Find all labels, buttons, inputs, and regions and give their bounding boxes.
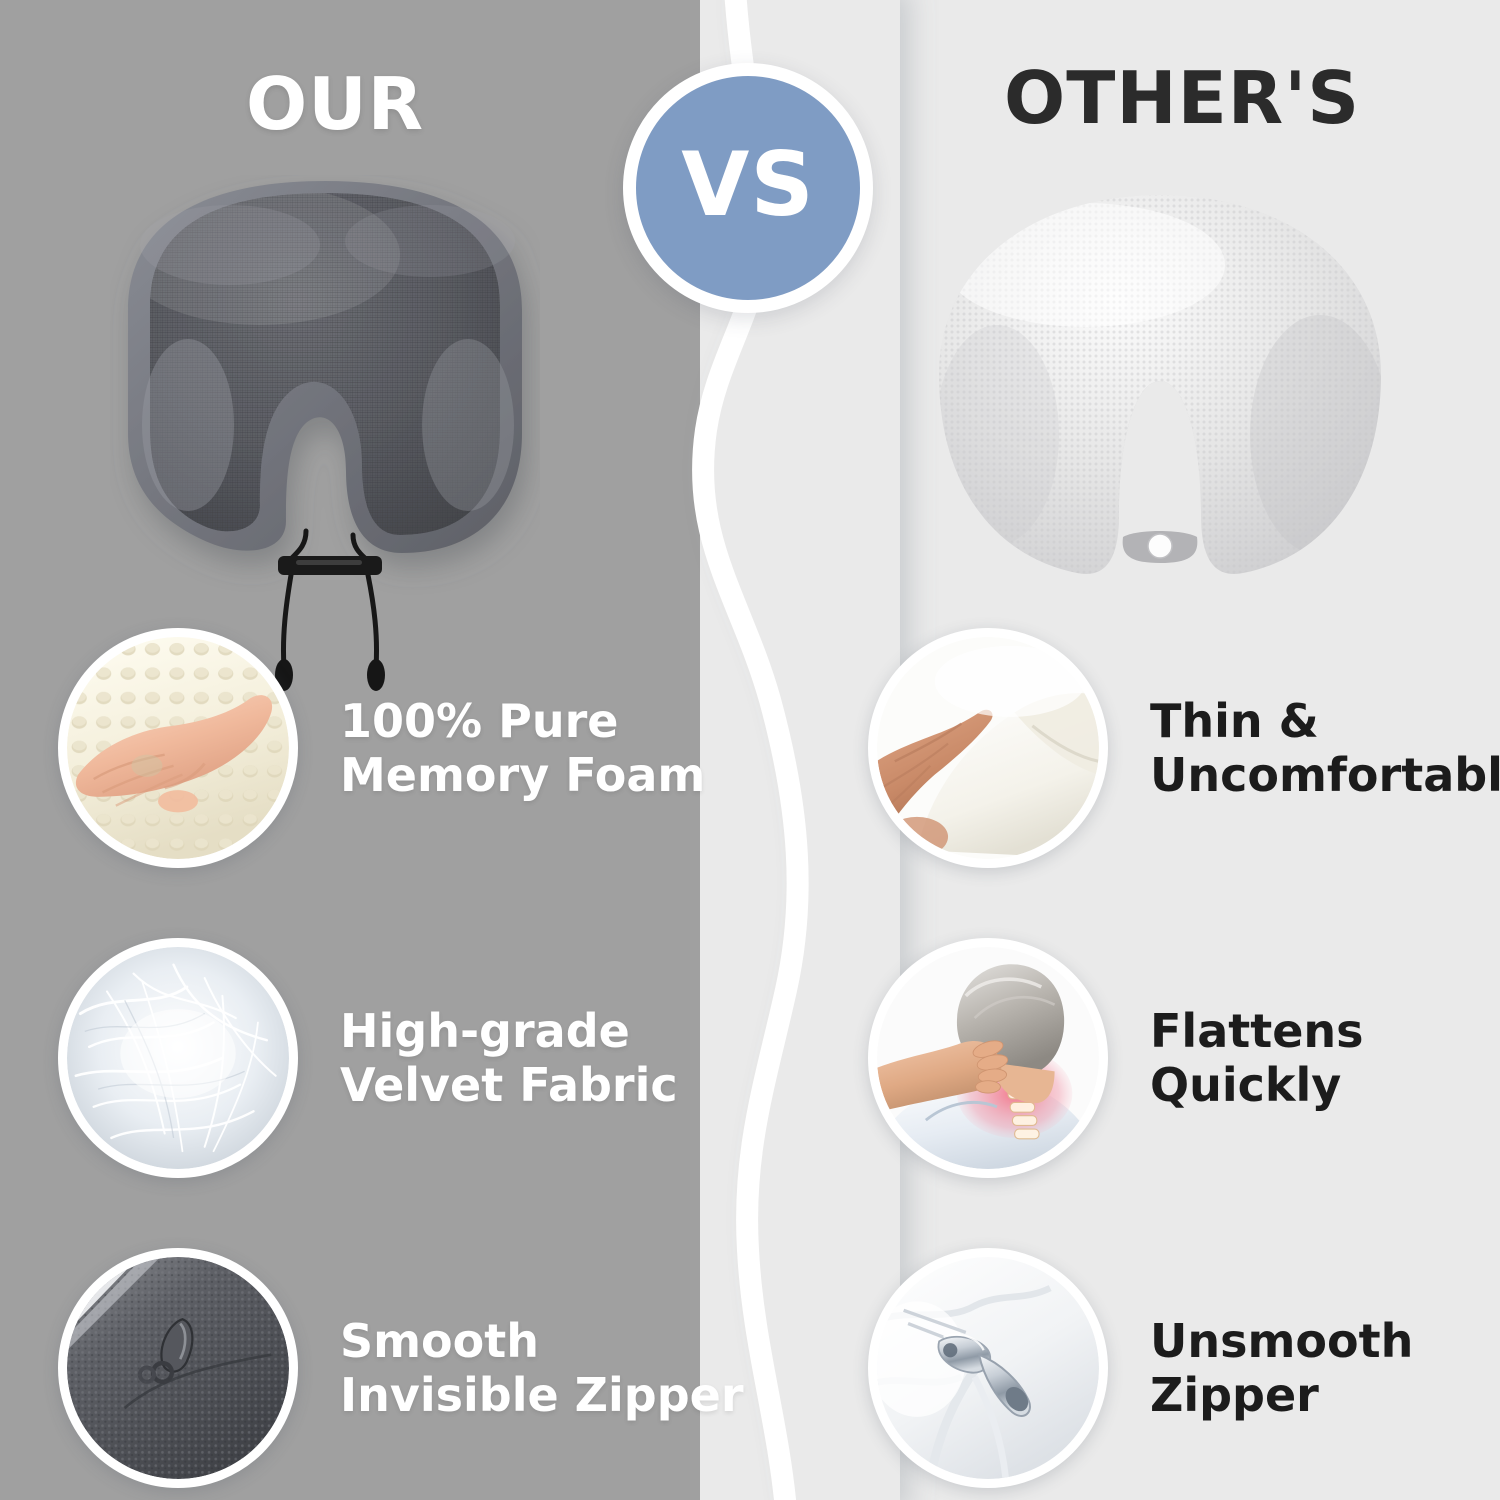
thumb-man-with-neck-pain-photo [868, 938, 1108, 1178]
feature-label-others-3: Unsmooth Zipper [1150, 1314, 1413, 1423]
page-title-others: OTHER'S [1004, 62, 1360, 134]
feature-label-our-1: 100% Pure Memory Foam [340, 694, 705, 803]
product-image-others-pillow [925, 185, 1395, 625]
thumb-hand-bending-thin-foam-photo [868, 628, 1108, 868]
feature-row-others-3: Unsmooth Zipper [868, 1248, 1413, 1488]
comparison-infographic: OUR OTHER'S VS [0, 0, 1500, 1500]
thumb-velvet-fiber-texture-photo [58, 938, 298, 1178]
feature-row-our-3: Smooth Invisible Zipper [58, 1248, 744, 1488]
cord-toggle [278, 556, 382, 575]
snap-button [1148, 534, 1172, 558]
feature-label-others-2: Flattens Quickly [1150, 1004, 1364, 1113]
vs-badge-label: VS [681, 141, 814, 229]
feature-row-our-2: High-grade Velvet Fabric [58, 938, 678, 1178]
thumb-white-fabric-metal-zipper-photo [868, 1248, 1108, 1488]
feature-label-our-2: High-grade Velvet Fabric [340, 1004, 678, 1113]
thumb-grey-fabric-invisible-zipper-photo [58, 1248, 298, 1488]
feature-row-our-1: 100% Pure Memory Foam [58, 628, 705, 868]
feature-label-our-3: Smooth Invisible Zipper [340, 1314, 744, 1423]
thumb-hand-pressing-memory-foam-photo [58, 628, 298, 868]
product-image-our-pillow [110, 175, 540, 695]
feature-label-others-1: Thin & Uncomfortable [1150, 694, 1500, 803]
page-title-our: OUR [246, 68, 424, 140]
feature-row-others-1: Thin & Uncomfortable [868, 628, 1500, 868]
vs-badge: VS [623, 63, 873, 313]
feature-row-others-2: Flattens Quickly [868, 938, 1364, 1178]
